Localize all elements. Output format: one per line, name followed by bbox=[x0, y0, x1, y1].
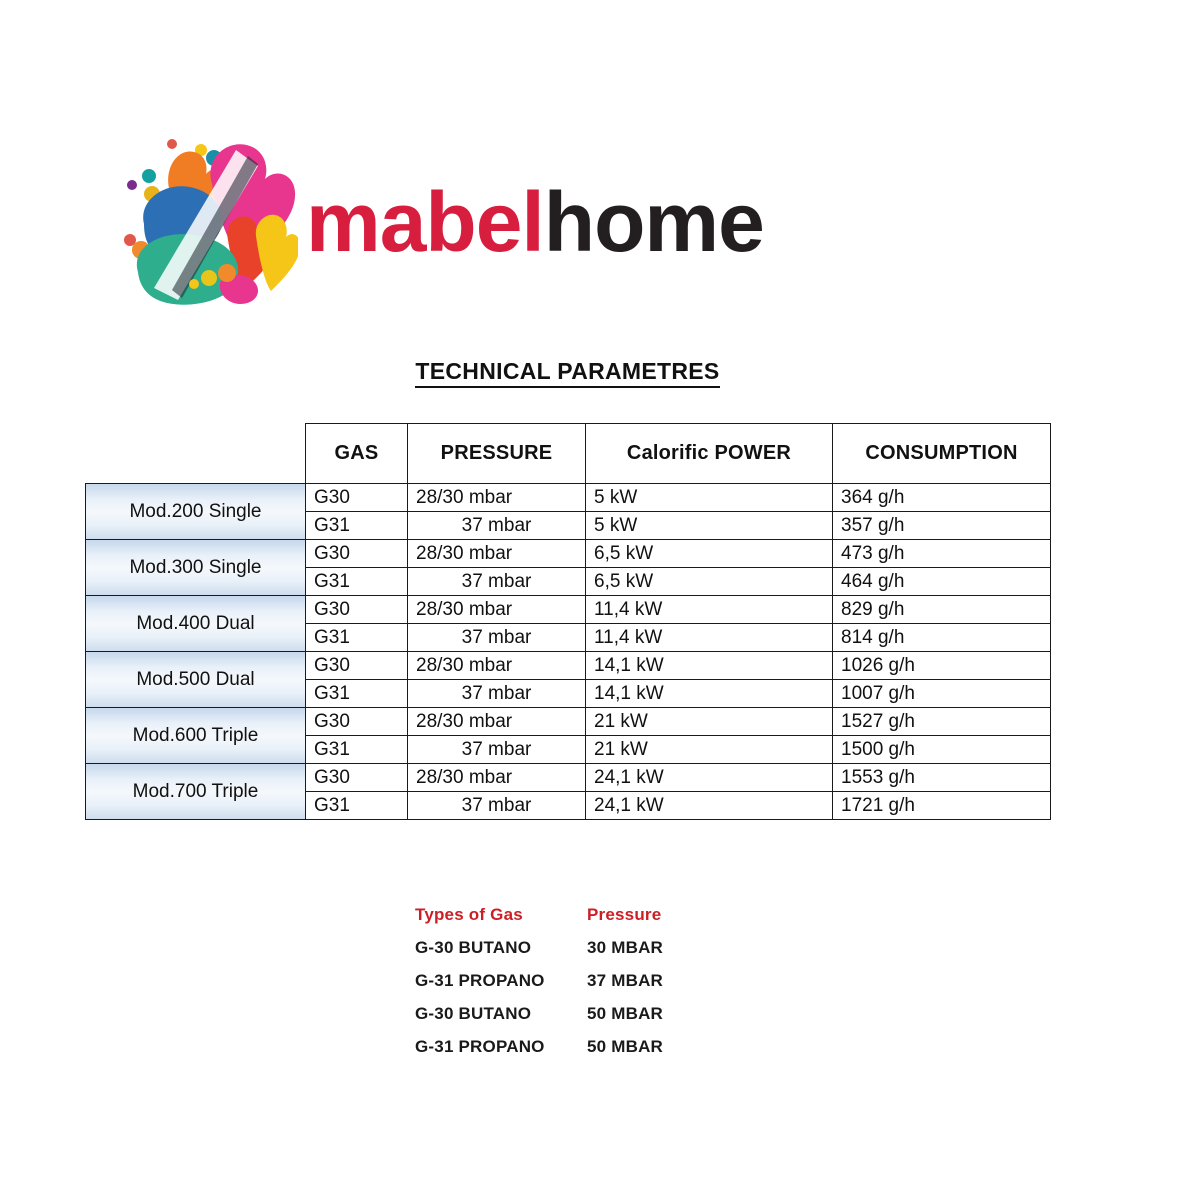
model-name-cell: Mod.400 Dual bbox=[86, 596, 306, 652]
legend-row: G-30 BUTANO30 MBAR bbox=[415, 931, 745, 964]
consumption-cell: 357 g/h bbox=[833, 512, 1051, 540]
pressure-cell: 37 mbar bbox=[408, 624, 586, 652]
calorific-power-cell: 14,1 kW bbox=[586, 652, 833, 680]
consumption-cell: 814 g/h bbox=[833, 624, 1051, 652]
legend-header-types-of-gas: Types of Gas bbox=[415, 905, 587, 925]
legend-gas-type: G-30 BUTANO bbox=[415, 1004, 587, 1024]
page-title-text: TECHNICAL PARAMETRES bbox=[415, 358, 719, 388]
calorific-power-cell: 14,1 kW bbox=[586, 680, 833, 708]
gas-cell: G31 bbox=[306, 568, 408, 596]
pressure-cell: 28/30 mbar bbox=[408, 540, 586, 568]
column-header-model bbox=[86, 424, 306, 484]
consumption-cell: 1500 g/h bbox=[833, 736, 1051, 764]
table-row: Mod.400 DualG3028/30 mbar11,4 kW829 g/h bbox=[86, 596, 1051, 624]
brand-logo: mabelhome bbox=[108, 132, 1008, 312]
column-header-calorific-power: Calorific POWER bbox=[586, 424, 833, 484]
calorific-power-cell: 21 kW bbox=[586, 736, 833, 764]
table-row: Mod.300 SingleG3028/30 mbar6,5 kW473 g/h bbox=[86, 540, 1051, 568]
calorific-power-cell: 11,4 kW bbox=[586, 624, 833, 652]
pressure-cell: 37 mbar bbox=[408, 568, 586, 596]
page-title: TECHNICAL PARAMETRES bbox=[85, 358, 1050, 385]
pressure-cell: 37 mbar bbox=[408, 512, 586, 540]
table-header-row: GAS PRESSURE Calorific POWER CONSUMPTION bbox=[86, 424, 1051, 484]
legend-pressure-value: 37 MBAR bbox=[587, 971, 737, 991]
table-body: Mod.200 SingleG3028/30 mbar5 kW364 g/hG3… bbox=[86, 484, 1051, 820]
mabelhome-butterfly-logo-icon bbox=[108, 132, 298, 312]
gas-cell: G31 bbox=[306, 792, 408, 820]
legend-header-pressure: Pressure bbox=[587, 905, 737, 925]
pressure-cell: 28/30 mbar bbox=[408, 484, 586, 512]
brand-wordmark: mabelhome bbox=[306, 172, 1006, 272]
table-row: Mod.500 DualG3028/30 mbar14,1 kW1026 g/h bbox=[86, 652, 1051, 680]
column-header-gas: GAS bbox=[306, 424, 408, 484]
gas-cell: G30 bbox=[306, 540, 408, 568]
gas-cell: G31 bbox=[306, 736, 408, 764]
model-name-cell: Mod.200 Single bbox=[86, 484, 306, 540]
model-name-cell: Mod.500 Dual bbox=[86, 652, 306, 708]
calorific-power-cell: 5 kW bbox=[586, 484, 833, 512]
consumption-cell: 1527 g/h bbox=[833, 708, 1051, 736]
technical-parameters-table: GAS PRESSURE Calorific POWER CONSUMPTION… bbox=[85, 423, 1051, 820]
column-header-pressure: PRESSURE bbox=[408, 424, 586, 484]
consumption-cell: 473 g/h bbox=[833, 540, 1051, 568]
legend-pressure-value: 50 MBAR bbox=[587, 1037, 737, 1057]
legend-gas-type: G-31 PROPANO bbox=[415, 971, 587, 991]
pressure-cell: 28/30 mbar bbox=[408, 764, 586, 792]
model-name-cell: Mod.300 Single bbox=[86, 540, 306, 596]
column-header-consumption: CONSUMPTION bbox=[833, 424, 1051, 484]
gas-cell: G31 bbox=[306, 512, 408, 540]
consumption-cell: 829 g/h bbox=[833, 596, 1051, 624]
gas-cell: G30 bbox=[306, 652, 408, 680]
legend-row: G-30 BUTANO50 MBAR bbox=[415, 997, 745, 1030]
legend-pressure-value: 50 MBAR bbox=[587, 1004, 737, 1024]
consumption-cell: 364 g/h bbox=[833, 484, 1051, 512]
gas-cell: G30 bbox=[306, 764, 408, 792]
legend-header-row: Types of Gas Pressure bbox=[415, 898, 745, 931]
gas-cell: G31 bbox=[306, 624, 408, 652]
pressure-cell: 37 mbar bbox=[408, 736, 586, 764]
legend-row: G-31 PROPANO37 MBAR bbox=[415, 964, 745, 997]
table-row: Mod.700 TripleG3028/30 mbar24,1 kW1553 g… bbox=[86, 764, 1051, 792]
legend-gas-type: G-30 BUTANO bbox=[415, 938, 587, 958]
calorific-power-cell: 24,1 kW bbox=[586, 764, 833, 792]
consumption-cell: 1007 g/h bbox=[833, 680, 1051, 708]
calorific-power-cell: 11,4 kW bbox=[586, 596, 833, 624]
legend-row: G-31 PROPANO50 MBAR bbox=[415, 1030, 745, 1063]
consumption-cell: 1721 g/h bbox=[833, 792, 1051, 820]
calorific-power-cell: 6,5 kW bbox=[586, 568, 833, 596]
model-name-cell: Mod.600 Triple bbox=[86, 708, 306, 764]
legend-body: G-30 BUTANO30 MBARG-31 PROPANO37 MBARG-3… bbox=[415, 931, 745, 1063]
legend-gas-type: G-31 PROPANO bbox=[415, 1037, 587, 1057]
model-name-cell: Mod.700 Triple bbox=[86, 764, 306, 820]
document-page: mabelhome TECHNICAL PARAMETRES GAS PRESS… bbox=[0, 0, 1200, 1200]
consumption-cell: 1026 g/h bbox=[833, 652, 1051, 680]
brand-wordmark-mabel: mabel bbox=[306, 175, 544, 269]
consumption-cell: 1553 g/h bbox=[833, 764, 1051, 792]
gas-cell: G30 bbox=[306, 484, 408, 512]
calorific-power-cell: 5 kW bbox=[586, 512, 833, 540]
pressure-cell: 28/30 mbar bbox=[408, 652, 586, 680]
consumption-cell: 464 g/h bbox=[833, 568, 1051, 596]
gas-cell: G30 bbox=[306, 708, 408, 736]
pressure-cell: 28/30 mbar bbox=[408, 708, 586, 736]
table-header: GAS PRESSURE Calorific POWER CONSUMPTION bbox=[86, 424, 1051, 484]
brand-wordmark-home: home bbox=[544, 175, 764, 269]
pressure-cell: 37 mbar bbox=[408, 680, 586, 708]
gas-cell: G31 bbox=[306, 680, 408, 708]
pressure-cell: 37 mbar bbox=[408, 792, 586, 820]
pressure-cell: 28/30 mbar bbox=[408, 596, 586, 624]
calorific-power-cell: 6,5 kW bbox=[586, 540, 833, 568]
table-row: Mod.200 SingleG3028/30 mbar5 kW364 g/h bbox=[86, 484, 1051, 512]
gas-cell: G30 bbox=[306, 596, 408, 624]
gas-pressure-legend: Types of Gas Pressure G-30 BUTANO30 MBAR… bbox=[415, 898, 745, 1063]
table-row: Mod.600 TripleG3028/30 mbar21 kW1527 g/h bbox=[86, 708, 1051, 736]
calorific-power-cell: 24,1 kW bbox=[586, 792, 833, 820]
legend-pressure-value: 30 MBAR bbox=[587, 938, 737, 958]
calorific-power-cell: 21 kW bbox=[586, 708, 833, 736]
